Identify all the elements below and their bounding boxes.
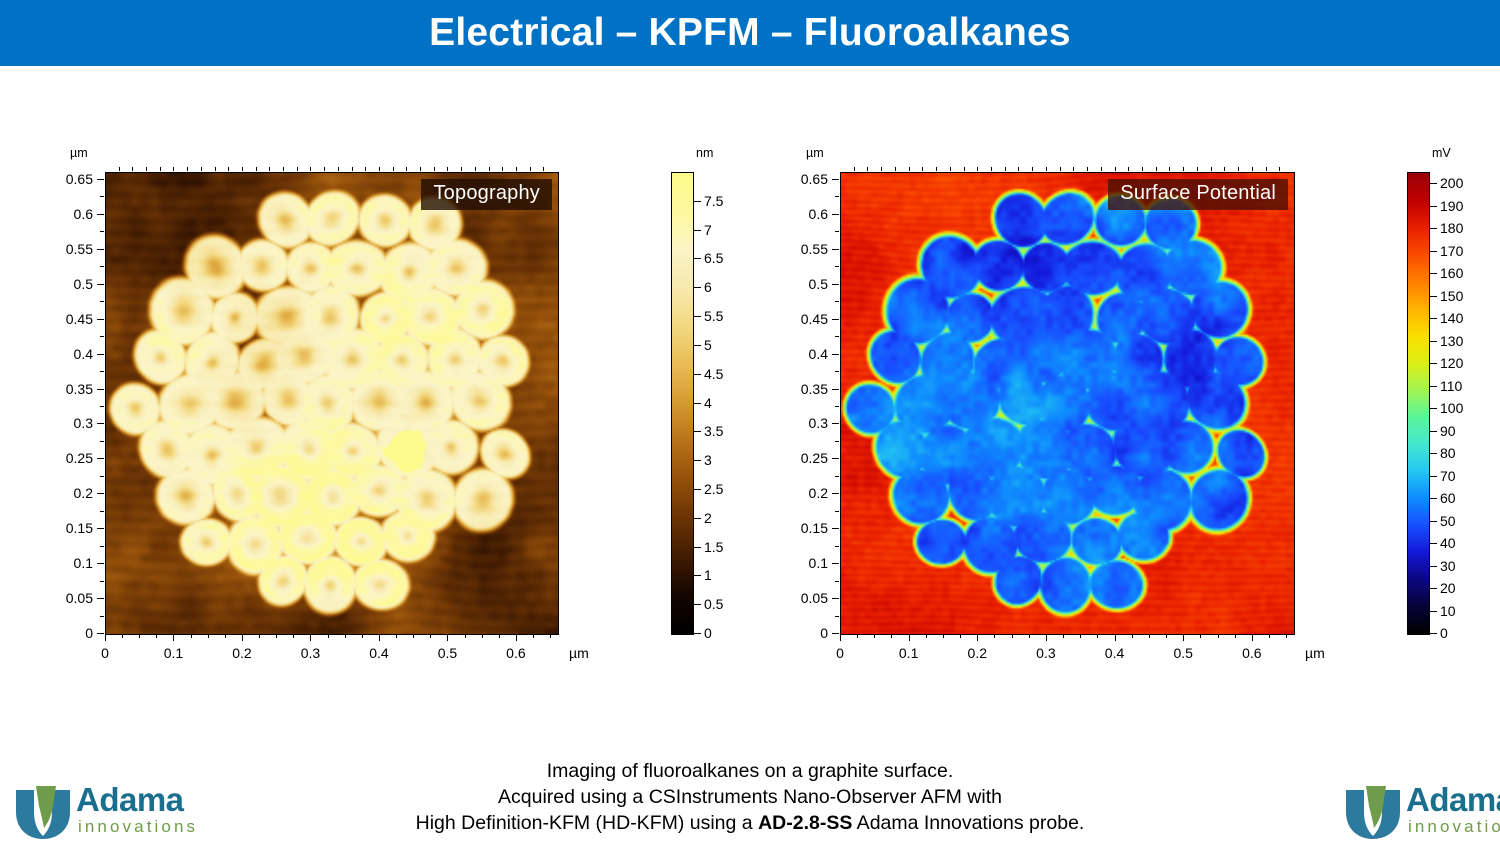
y-axis-tick [97,179,104,180]
x-axis-tick [379,634,380,641]
colorbar-tick-label: 100 [1440,400,1463,416]
colorbar-tick [694,575,701,576]
top-edge-tick [895,167,896,171]
top-edge-tick [324,167,325,171]
colorbar-tick-label: 7 [704,222,712,238]
y-axis-tick [97,528,104,529]
colorbar-tick [1430,543,1437,544]
adama-leaf-icon [1344,784,1402,840]
top-edge-tick [352,167,353,171]
y-axis-minor-tick [100,196,104,197]
x-axis-minor-tick [1063,634,1064,638]
y-axis-tick-label: 0.3 [27,415,93,431]
top-edge-tick [1169,167,1170,171]
topography-canvas [106,173,558,634]
x-axis-tick-label: 0.3 [1036,645,1055,661]
y-axis-tick-label: 0 [762,625,828,641]
x-axis-minor-tick [550,634,551,638]
y-axis-tick-label: 0.5 [27,276,93,292]
y-axis-tick-label: 0.55 [762,241,828,257]
colorbar-tick-label: 80 [1440,445,1456,461]
colorbar-tick [694,316,701,317]
y-axis-minor-tick [100,458,104,459]
colorbar-tick [694,489,701,490]
colorbar-tick [694,201,701,202]
top-edge-tick [132,167,133,171]
x-axis-minor-tick [533,634,534,638]
y-axis-tick [97,633,104,634]
y-axis-tick-label: 0.65 [762,171,828,187]
y-axis-minor-tick [835,371,839,372]
top-edge-tick [502,167,503,171]
x-axis-minor-tick [1200,634,1201,638]
logo-wordmark: Adama [1406,781,1500,819]
x-axis-minor-tick [1269,634,1270,638]
y-axis-tick [97,563,104,564]
top-edge-tick [1142,167,1143,171]
top-edge-tick [1156,167,1157,171]
colorbar-tick-label: 50 [1440,513,1456,529]
top-edge-tick [475,167,476,171]
y-axis-tick-label: 0.35 [27,381,93,397]
top-edge-tick [420,167,421,171]
colorbar-tick-label: 140 [1440,310,1463,326]
colorbar-tick-label: 0.5 [704,596,723,612]
colorbar-tick [1430,566,1437,567]
logo-tagline: innovations [78,817,198,837]
top-edge-tick [936,167,937,171]
logo-adama-right: Adama innovations [1344,782,1500,844]
x-axis-minor-tick [345,634,346,638]
colorbar-tick [694,633,701,634]
caption-line-2: Acquired using a CSInstruments Nano-Obse… [200,784,1300,810]
top-edge-tick [242,167,243,171]
top-edge-tick [173,167,174,171]
top-edge-tick [854,167,855,171]
x-axis-tick-label: 0.5 [438,645,457,661]
y-axis-minor-tick [835,266,839,267]
x-axis-minor-tick [926,634,927,638]
y-axis-tick-label: 0.55 [27,241,93,257]
x-axis-tick [1252,634,1253,641]
x-axis-minor-tick [430,634,431,638]
x-axis-tick-label: 0.4 [369,645,388,661]
top-edge-tick [1018,167,1019,171]
top-edge-tick [215,167,216,171]
y-axis-minor-tick [835,301,839,302]
y-axis-tick [832,598,839,599]
colorbar-tick [1430,183,1437,184]
colorbar-tick-label: 200 [1440,175,1463,191]
y-axis-tick-label: 0.65 [27,171,93,187]
logo-wordmark: Adama [76,781,184,819]
y-axis-tick-label: 0.5 [762,276,828,292]
colorbar-tick [1430,273,1437,274]
caption-line-1: Imaging of fluoroalkanes on a graphite s… [200,758,1300,784]
colorbar-tick-label: 70 [1440,468,1456,484]
colorbar-tick-label: 30 [1440,558,1456,574]
colorbar-tick [694,345,701,346]
x-axis-tick-label: 0 [836,645,844,661]
colorbar-tick [1430,296,1437,297]
top-edge-tick [867,167,868,171]
colorbar-tick-label: 4.5 [704,366,723,382]
y-axis-tick-label: 0.35 [762,381,828,397]
top-edge-tick [1252,167,1253,171]
colorbar-tick [1430,453,1437,454]
x-axis-minor-tick [943,634,944,638]
x-axis-minor-tick [293,634,294,638]
x-axis-tick [173,634,174,641]
y-axis-minor-tick [100,441,104,442]
x-axis-minor-tick [259,634,260,638]
x-axis-minor-tick [1166,634,1167,638]
top-edge-tick [922,167,923,171]
top-edge-tick [964,167,965,171]
top-edge-tick [160,167,161,171]
x-axis-minor-tick [122,634,123,638]
x-axis-minor-tick [1149,634,1150,638]
y-axis-minor-tick [100,231,104,232]
colorbar-tick-label: 6.5 [704,250,723,266]
logo-adama-left: Adama innovations [14,782,192,844]
colorbar-tick-label: 130 [1440,333,1463,349]
colorbar-tick-label: 2 [704,510,712,526]
colorbar-tick [694,230,701,231]
x-axis-tick [909,634,910,641]
y-axis-tick [832,389,839,390]
colorbar-tick [694,258,701,259]
slide-caption: Imaging of fluoroalkanes on a graphite s… [200,758,1300,836]
x-axis-tick [1115,634,1116,641]
top-edge-tick [1211,167,1212,171]
colorbar-tick-label: 3.5 [704,423,723,439]
x-axis-tick-label: 0.4 [1105,645,1124,661]
x-axis-minor-tick [413,634,414,638]
top-edge-tick [489,167,490,171]
x-axis-minor-tick [1097,634,1098,638]
y-axis-minor-tick [835,546,839,547]
y-axis-tick-label: 0.05 [27,590,93,606]
x-axis-minor-tick [139,634,140,638]
x-axis-tick-label: 0.3 [301,645,320,661]
colorbar-tick [1430,206,1437,207]
y-axis-tick [97,249,104,250]
x-axis-minor-tick [276,634,277,638]
colorbar-tick-label: 150 [1440,288,1463,304]
top-edge-tick [1238,167,1239,171]
x-axis-minor-tick [1218,634,1219,638]
colorbar-tick-label: 20 [1440,580,1456,596]
top-edge-tick [201,167,202,171]
y-axis-minor-tick [835,196,839,197]
y-axis-tick-label: 0 [27,625,93,641]
colorbar-tick-label: 10 [1440,603,1456,619]
colorbar-tick [694,403,701,404]
top-edge-tick [269,167,270,171]
x-axis-minor-tick [482,634,483,638]
colorbar-tick [1430,386,1437,387]
y-axis-tick-label: 0.4 [27,346,93,362]
topography-y-axis-unit: µm [70,146,88,160]
y-axis-tick-label: 0.1 [762,555,828,571]
y-axis-tick [97,389,104,390]
y-axis-tick-label: 0.6 [27,206,93,222]
colorbar-tick-label: 0 [704,625,712,641]
top-edge-tick [909,167,910,171]
colorbar-tick [694,604,701,605]
y-axis-minor-tick [100,371,104,372]
y-axis-tick-label: 0.3 [762,415,828,431]
y-axis-tick [97,598,104,599]
x-axis-minor-tick [499,634,500,638]
colorbar-tick [1430,521,1437,522]
topography-colorbar-unit: nm [696,146,713,160]
top-edge-tick [530,167,531,171]
colorbar-tick [694,287,701,288]
x-axis-unit: µm [1305,645,1325,661]
y-axis-tick-label: 0.2 [27,485,93,501]
colorbar-tick-label: 90 [1440,423,1456,439]
top-edge-tick [283,167,284,171]
colorbar-tick-label: 1.5 [704,539,723,555]
y-axis-tick-label: 0.1 [27,555,93,571]
top-edge-tick [406,167,407,171]
x-axis-minor-tick [1029,634,1030,638]
y-axis-minor-tick [100,546,104,547]
colorbar-tick-label: 110 [1440,378,1462,394]
colorbar-tick [694,518,701,519]
x-axis-minor-tick [1080,634,1081,638]
x-axis-minor-tick [208,634,209,638]
y-axis-minor-tick [835,441,839,442]
colorbar-tick-label: 0 [1440,625,1448,641]
top-edge-tick [393,167,394,171]
x-axis-minor-tick [857,634,858,638]
colorbar-tick [1430,498,1437,499]
colorbar-tick-label: 180 [1440,220,1463,236]
x-axis-tick-label: 0.1 [899,645,918,661]
x-axis-minor-tick [328,634,329,638]
x-axis-minor-tick [156,634,157,638]
x-axis-minor-tick [1286,634,1287,638]
top-edge-tick [1115,167,1116,171]
x-axis-tick-label: 0.6 [506,645,525,661]
x-axis-tick-label: 0.5 [1173,645,1192,661]
y-axis-minor-tick [835,581,839,582]
y-axis-minor-tick [100,476,104,477]
y-axis-tick [97,214,104,215]
top-edge-tick [1197,167,1198,171]
x-axis-minor-tick [362,634,363,638]
colorbar-tick [1430,341,1437,342]
y-axis-tick [97,423,104,424]
top-edge-tick [1046,167,1047,171]
top-edge-tick [365,167,366,171]
x-axis-minor-tick [1012,634,1013,638]
topography-colorbar [671,172,694,635]
colorbar-tick [1430,318,1437,319]
top-edge-tick [977,167,978,171]
x-axis-tick [1046,634,1047,641]
colorbar-tick-label: 170 [1440,243,1463,259]
x-axis-minor-tick [994,634,995,638]
y-axis-tick [832,319,839,320]
y-axis-tick-label: 0.05 [762,590,828,606]
y-axis-tick-label: 0.2 [762,485,828,501]
top-edge-tick [297,167,298,171]
top-edge-tick [881,167,882,171]
colorbar-tick [694,547,701,548]
colorbar-tick-label: 5.5 [704,308,723,324]
x-axis-minor-tick [396,634,397,638]
topography-colorbar-gradient [672,173,693,634]
top-edge-tick [228,167,229,171]
probe-model: AD-2.8-SS [758,812,852,834]
surface-potential-image[interactable]: Surface Potential [840,172,1295,635]
y-axis-tick-label: 0.45 [27,311,93,327]
top-edge-tick [1087,167,1088,171]
x-axis-tick [1183,634,1184,641]
y-axis-tick-label: 0.4 [762,346,828,362]
colorbar-tick [694,374,701,375]
x-axis-minor-tick [874,634,875,638]
top-edge-tick [256,167,257,171]
y-axis-minor-tick [835,458,839,459]
x-axis-tick-label: 0.1 [164,645,183,661]
logo-tagline: innovations [1408,817,1500,837]
top-edge-tick [379,167,380,171]
x-axis-tick-label: 0.2 [968,645,987,661]
y-axis-minor-tick [100,616,104,617]
colorbar-tick-label: 60 [1440,490,1456,506]
top-edge-tick [1101,167,1102,171]
x-axis-tick [840,634,841,641]
y-axis-tick [832,354,839,355]
top-edge-tick [1266,167,1267,171]
potential-colorbar-unit: mV [1432,146,1451,160]
x-axis-minor-tick [225,634,226,638]
y-axis-minor-tick [835,511,839,512]
top-edge-tick [1224,167,1225,171]
top-edge-tick [991,167,992,171]
y-axis-tick [832,284,839,285]
top-edge-tick [146,167,147,171]
y-axis-tick [832,179,839,180]
x-axis-minor-tick [960,634,961,638]
top-edge-tick [1005,167,1006,171]
y-axis-minor-tick [835,476,839,477]
x-axis-tick [516,634,517,641]
colorbar-tick-label: 40 [1440,535,1456,551]
page-title: Electrical – KPFM – Fluoroalkanes [0,3,1500,63]
caption-line-3: High Definition-KFM (HD-KFM) using a AD-… [200,810,1300,836]
colorbar-tick [694,460,701,461]
x-axis-tick [310,634,311,641]
top-edge-tick [1183,167,1184,171]
colorbar-tick [1430,611,1437,612]
y-axis-minor-tick [835,231,839,232]
colorbar-tick [1430,228,1437,229]
colorbar-tick-label: 4 [704,395,712,411]
caption-line-3-prefix: High Definition-KFM (HD-KFM) using a [416,812,758,834]
top-edge-tick [1060,167,1061,171]
top-edge-tick [461,167,462,171]
x-axis-minor-tick [1235,634,1236,638]
colorbar-tick-label: 190 [1440,198,1463,214]
colorbar-tick [1430,633,1437,634]
topography-image[interactable]: Topography [105,172,559,635]
x-axis-minor-tick [242,634,243,638]
colorbar-tick [1430,431,1437,432]
colorbar-tick [694,431,701,432]
colorbar-tick [1430,476,1437,477]
topography-scan-label: Topography [421,179,552,210]
top-edge-tick [543,167,544,171]
y-axis-tick [97,284,104,285]
potential-y-axis-unit: µm [806,146,824,160]
x-axis-tick [447,634,448,641]
y-axis-tick-label: 0.15 [27,520,93,536]
y-axis-tick [832,249,839,250]
colorbar-tick-label: 160 [1440,265,1463,281]
top-edge-tick [1279,167,1280,171]
adama-leaf-icon [14,784,72,840]
top-edge-tick [119,167,120,171]
y-axis-minor-tick [100,336,104,337]
x-axis-minor-tick [191,634,192,638]
x-axis-tick-label: 0.2 [232,645,251,661]
y-axis-tick [97,354,104,355]
colorbar-tick-label: 5 [704,337,712,353]
x-axis-minor-tick [977,634,978,638]
y-axis-minor-tick [100,301,104,302]
top-edge-tick [950,167,951,171]
y-axis-tick [832,563,839,564]
y-axis-tick [832,214,839,215]
y-axis-tick [832,633,839,634]
y-axis-tick-label: 0.45 [762,311,828,327]
colorbar-tick [1430,251,1437,252]
top-edge-tick [1032,167,1033,171]
colorbar-tick-label: 3 [704,452,712,468]
x-axis-unit: µm [569,645,589,661]
caption-line-3-suffix: Adama Innovations probe. [852,812,1084,834]
y-axis-minor-tick [100,493,104,494]
colorbar-tick [1430,408,1437,409]
x-axis-minor-tick [465,634,466,638]
top-edge-tick [310,167,311,171]
colorbar-tick [1430,588,1437,589]
y-axis-tick-label: 0.15 [762,520,828,536]
top-edge-tick [187,167,188,171]
top-edge-tick [447,167,448,171]
potential-colorbar-gradient [1408,173,1429,634]
x-axis-tick-label: 0 [101,645,109,661]
surface-potential-canvas [841,173,1294,634]
y-axis-minor-tick [100,266,104,267]
top-edge-tick [1073,167,1074,171]
y-axis-minor-tick [835,493,839,494]
y-axis-minor-tick [835,616,839,617]
y-axis-tick [832,423,839,424]
surface-potential-scan-label: Surface Potential [1108,179,1288,210]
y-axis-minor-tick [835,336,839,337]
colorbar-tick-label: 120 [1440,355,1463,371]
colorbar-tick-label: 7.5 [704,193,723,209]
y-axis-tick [832,528,839,529]
x-axis-minor-tick [1132,634,1133,638]
